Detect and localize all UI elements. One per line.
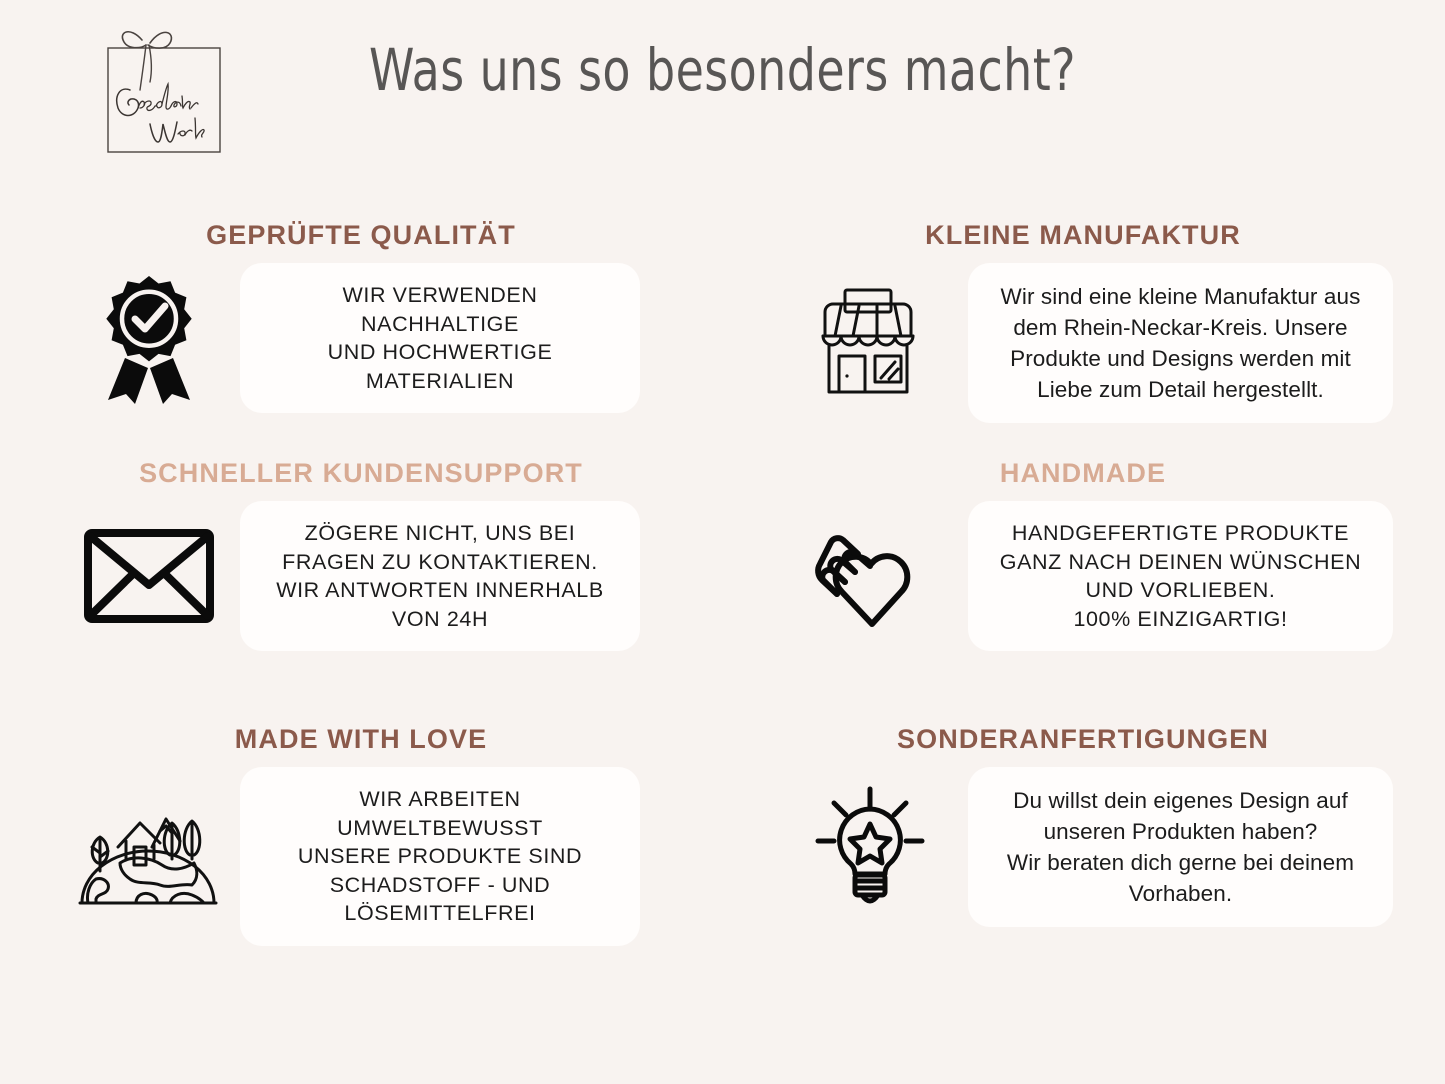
feature-text-sonderanfertigungen: Du willst dein eigenes Design auf unsere… [1007, 785, 1354, 909]
feature-card-made-with-love: WIR ARBEITEN UMWELTBEWUSST UNSERE PRODUK… [240, 767, 640, 946]
feature-grid: GEPRÜFTE QUALITÄT WIR VERWENDEN NACHHALT… [0, 196, 1445, 938]
feature-text-kleine-manufaktur: Wir sind eine kleine Manufaktur aus dem … [1001, 281, 1361, 405]
feature-geprufte-qualitaet: GEPRÜFTE QUALITÄT WIR VERWENDEN NACHHALT… [0, 196, 722, 434]
feature-card-handmade: HANDGEFERTIGTE PRODUKTE GANZ NACH DEINEN… [968, 501, 1393, 651]
eco-earth-icon [74, 793, 224, 919]
feature-text-geprufte-qualitaet: WIR VERWENDEN NACHHALTIGE UND HOCHWERTIG… [262, 281, 618, 395]
feature-kleine-manufaktur: KLEINE MANUFAKTUR Wir sind eine kleine [722, 196, 1444, 434]
lightbulb-star-icon [800, 783, 940, 911]
feature-card-kleine-manufaktur: Wir sind eine kleine Manufaktur aus dem … [968, 263, 1393, 423]
hand-heart-icon-graphic [808, 520, 933, 632]
storefront-icon [800, 284, 940, 402]
feature-heading-kleine-manufaktur: KLEINE MANUFAKTUR [722, 196, 1444, 249]
envelope-icon-graphic [82, 523, 216, 629]
feature-text-handmade: HANDGEFERTIGTE PRODUKTE GANZ NACH DEINEN… [1000, 519, 1361, 633]
envelope-icon [74, 523, 224, 629]
feature-heading-schneller-kundensupport: SCHNELLER KUNDENSUPPORT [0, 434, 722, 487]
feature-heading-geprufte-qualitaet: GEPRÜFTE QUALITÄT [0, 196, 722, 249]
feature-heading-sonderanfertigungen: SONDERANFERTIGUNGEN [722, 700, 1444, 753]
quality-badge-icon-graphic [90, 272, 208, 404]
quality-badge-icon [74, 272, 224, 404]
page-header: Was uns so besonders macht? [0, 0, 1445, 175]
feature-heading-made-with-love: MADE WITH LOVE [0, 700, 722, 753]
hand-heart-icon [800, 520, 940, 632]
feature-made-with-love: MADE WITH LOVE [0, 700, 722, 938]
lightbulb-star-icon-graphic [814, 783, 926, 911]
feature-handmade: HANDMADE HANDGEFERTIGTE PRODUKTE GANZ NA… [722, 434, 1444, 700]
eco-earth-icon-graphic [74, 793, 224, 919]
feature-card-geprufte-qualitaet: WIR VERWENDEN NACHHALTIGE UND HOCHWERTIG… [240, 263, 640, 413]
feature-text-made-with-love: WIR ARBEITEN UMWELTBEWUSST UNSERE PRODUK… [262, 785, 618, 928]
feature-schneller-kundensupport: SCHNELLER KUNDENSUPPORT ZÖGERE NICHT, UN… [0, 434, 722, 700]
feature-sonderanfertigungen: SONDERANFERTIGUNGEN [722, 700, 1444, 938]
feature-text-schneller-kundensupport: ZÖGERE NICHT, UNS BEI FRAGEN ZU KONTAKTI… [276, 519, 604, 633]
storefront-icon-graphic [815, 284, 925, 402]
feature-card-sonderanfertigungen: Du willst dein eigenes Design auf unsere… [968, 767, 1393, 927]
page-title: Was uns so besonders macht? [87, 36, 1359, 104]
feature-card-schneller-kundensupport: ZÖGERE NICHT, UNS BEI FRAGEN ZU KONTAKTI… [240, 501, 640, 651]
feature-heading-handmade: HANDMADE [722, 434, 1444, 487]
